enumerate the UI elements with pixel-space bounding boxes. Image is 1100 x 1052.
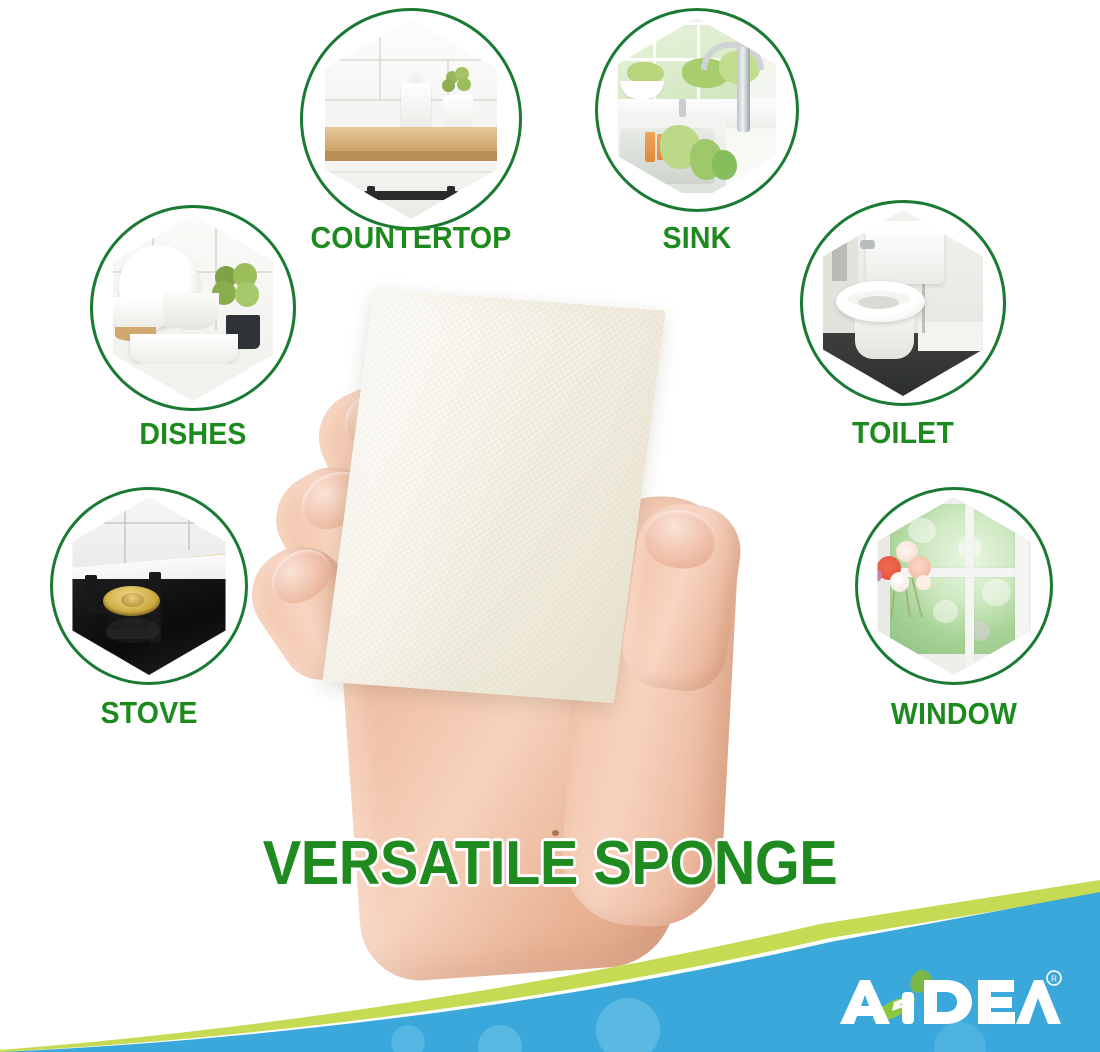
badge-label-window: WINDOW	[863, 698, 1045, 729]
brand-logo: R	[816, 968, 1066, 1030]
badge-label-stove: STOVE	[58, 697, 240, 728]
badge-stove	[50, 487, 248, 685]
logo-letter-a	[840, 980, 890, 1024]
badge-dishes	[90, 205, 296, 411]
badge-window	[855, 487, 1053, 685]
registered-mark: R	[1051, 975, 1057, 984]
badge-toilet	[800, 200, 1006, 406]
logo-letter-a2	[1016, 980, 1061, 1024]
badge-label-sink: SINK	[603, 222, 791, 253]
badge-countertop	[300, 8, 522, 230]
badge-label-toilet: TOILET	[808, 417, 998, 448]
logo-letter-i	[902, 992, 914, 1024]
badge-label-countertop: COUNTERTOP	[309, 222, 513, 253]
logo-letter-d	[924, 980, 972, 1024]
logo-letter-e	[978, 980, 1015, 1024]
badge-sink	[595, 8, 799, 212]
badge-label-dishes: DISHES	[98, 418, 288, 449]
brand-banner: R	[0, 880, 1100, 1052]
sponge	[322, 289, 665, 704]
product-marketing-image: COUNTERTOP	[0, 0, 1100, 1052]
